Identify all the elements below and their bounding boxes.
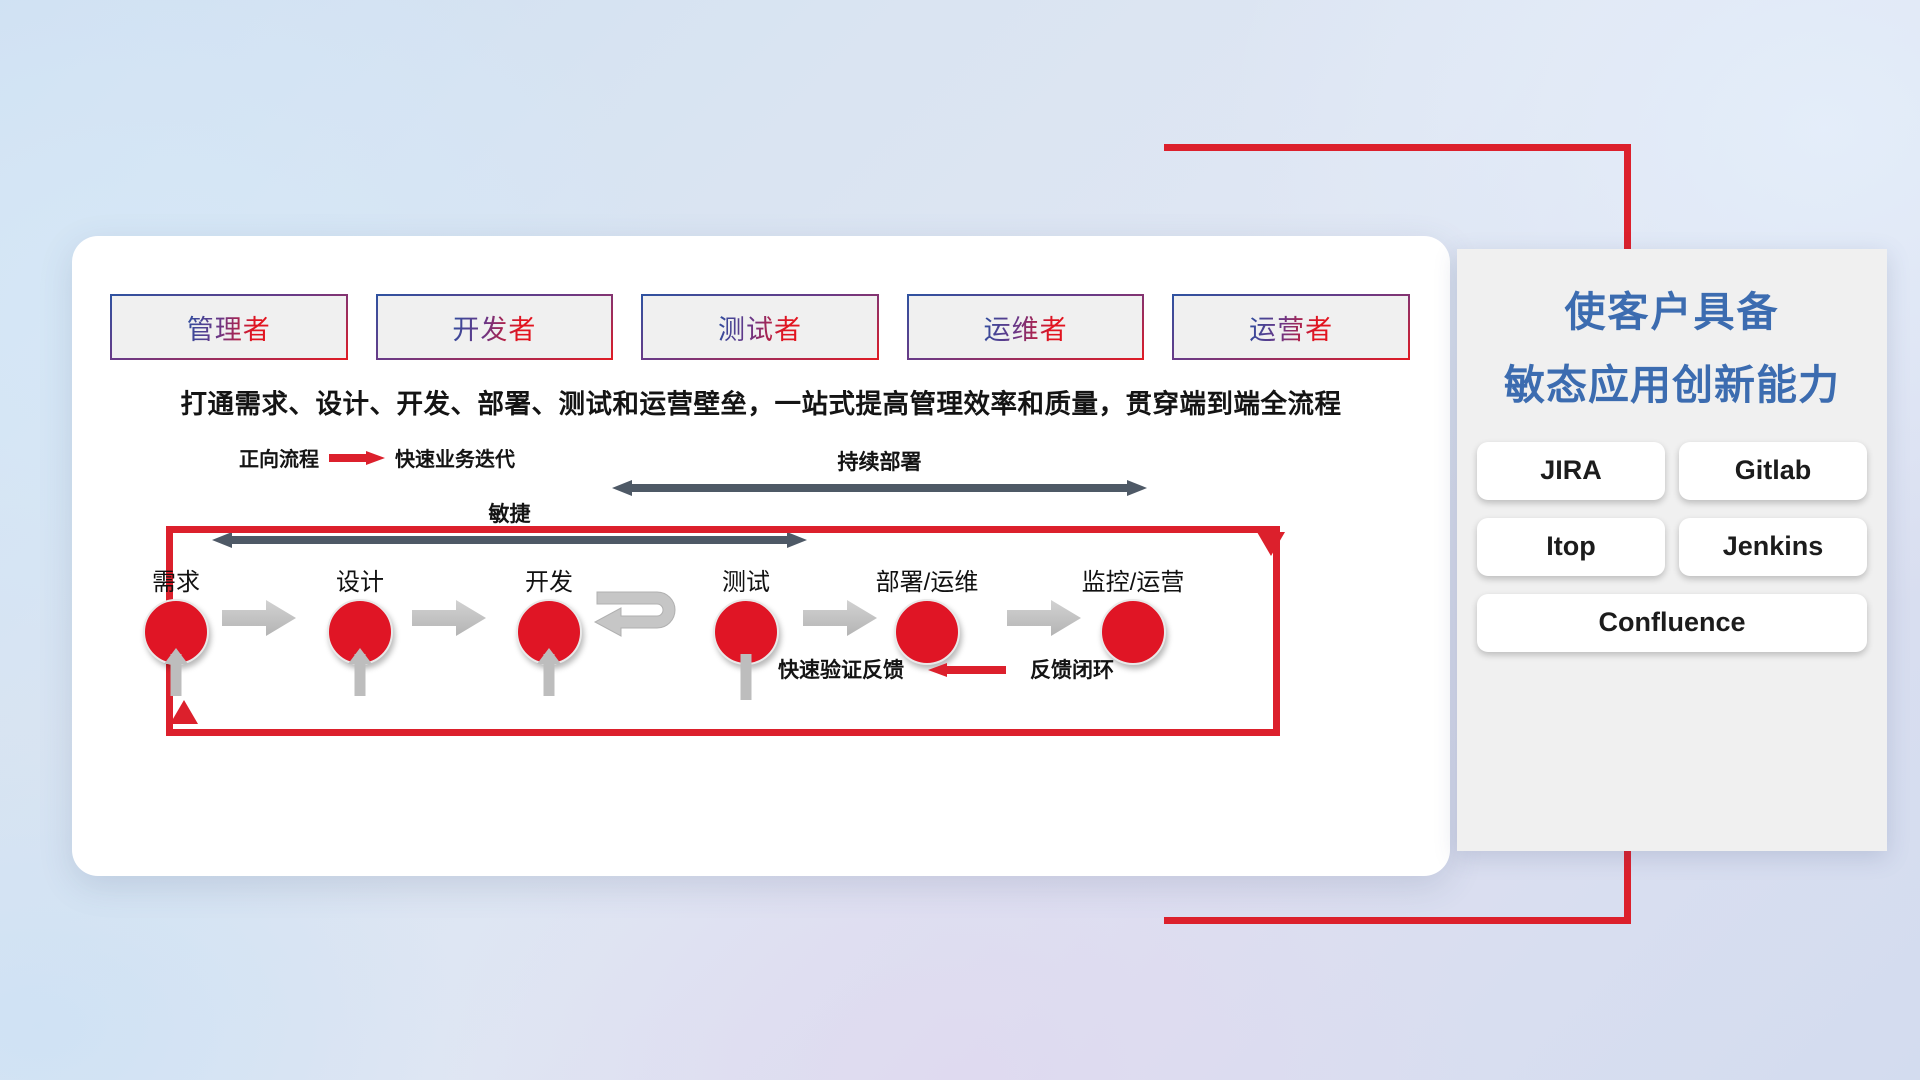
role-label: 开发者 — [452, 308, 536, 347]
pipeline-stage-testing[interactable]: 测试 — [680, 562, 812, 665]
red-left-arrow-icon — [928, 663, 1006, 676]
tool-chip-gitlab[interactable]: Gitlab — [1679, 442, 1867, 500]
tool-chip-jenkins[interactable]: Jenkins — [1679, 518, 1867, 576]
role-box-operations-maintenance[interactable]: 运维者 — [907, 294, 1145, 360]
description-text: 打通需求、设计、开发、部署、测试和运营壁垒，一站式提高管理效率和质量，贯穿端到端… — [72, 382, 1450, 421]
tool-chip-confluence[interactable]: Confluence — [1477, 594, 1867, 652]
role-box-tester[interactable]: 测试者 — [641, 294, 879, 360]
stage-feed-arrow-icon — [537, 648, 561, 664]
role-label: 运营者 — [1249, 308, 1333, 347]
feedback-legend: 快速验证反馈 反馈闭环 — [778, 654, 1114, 684]
forward-flow-label-left: 正向流程 — [239, 443, 319, 472]
forward-flow-label-right: 快速业务迭代 — [395, 443, 515, 472]
stage-feed-arrow-icon — [348, 648, 372, 664]
flow-arrow-icon — [222, 598, 296, 638]
tool-list: JIRA Gitlab Itop Jenkins Confluence — [1471, 442, 1873, 652]
stage-feed-arrow-icon — [164, 648, 188, 664]
role-box-developer[interactable]: 开发者 — [376, 294, 614, 360]
feedback-label-left: 快速验证反馈 — [778, 654, 904, 684]
double-headed-arrow-icon — [612, 480, 1147, 496]
continuous-deployment-span: 持续部署 — [612, 446, 1147, 496]
pipeline-stage-deploy-ops[interactable]: 部署/运维 — [861, 562, 993, 665]
flow-arrow-icon — [412, 598, 486, 638]
agile-label: 敏捷 — [212, 498, 807, 528]
role-box-list: 管理者 开发者 测试者 运维者 运营者 — [110, 294, 1410, 360]
forward-flow-legend: 正向流程 快速业务迭代 — [239, 443, 515, 472]
outcome-panel: 使客户具备 敏态应用创新能力 JIRA Gitlab Itop Jenkins … — [1457, 249, 1887, 851]
main-content-card: 管理者 开发者 测试者 运维者 运营者 打通需求、设计、开发、部署、测试和运营壁… — [72, 236, 1450, 876]
panel-title-line2: 敏态应用创新能力 — [1457, 356, 1887, 415]
role-label: 测试者 — [718, 308, 802, 347]
stage-label: 监控/运营 — [1067, 562, 1199, 597]
loop-arrow-down-icon — [1257, 532, 1285, 556]
loop-arrow-up-icon — [170, 700, 198, 724]
tool-chip-itop[interactable]: Itop — [1477, 518, 1665, 576]
panel-title: 使客户具备 敏态应用创新能力 — [1457, 249, 1887, 416]
role-box-business-operations[interactable]: 运营者 — [1172, 294, 1410, 360]
feedback-label-right: 反馈闭环 — [1030, 654, 1114, 684]
panel-title-line1: 使客户具备 — [1457, 283, 1887, 342]
pipeline-stage-design[interactable]: 设计 — [294, 562, 426, 665]
stage-label: 测试 — [680, 562, 812, 597]
stage-label: 设计 — [294, 562, 426, 597]
flow-arrow-icon — [803, 598, 877, 638]
pipeline-stage-monitor-operations[interactable]: 监控/运营 — [1067, 562, 1199, 665]
slide-canvas: 管理者 开发者 测试者 运维者 运营者 打通需求、设计、开发、部署、测试和运营壁… — [0, 0, 1920, 1080]
role-label: 管理者 — [187, 308, 271, 347]
flow-arrow-icon — [1007, 598, 1081, 638]
stage-label: 需求 — [110, 562, 242, 597]
stage-label: 部署/运维 — [861, 562, 993, 597]
red-right-arrow-icon — [329, 451, 385, 464]
role-label: 运维者 — [984, 308, 1068, 347]
continuous-deployment-label: 持续部署 — [612, 446, 1147, 476]
role-box-manager[interactable]: 管理者 — [110, 294, 348, 360]
iteration-loop-arrow-icon — [585, 584, 693, 655]
tool-chip-jira[interactable]: JIRA — [1477, 442, 1665, 500]
